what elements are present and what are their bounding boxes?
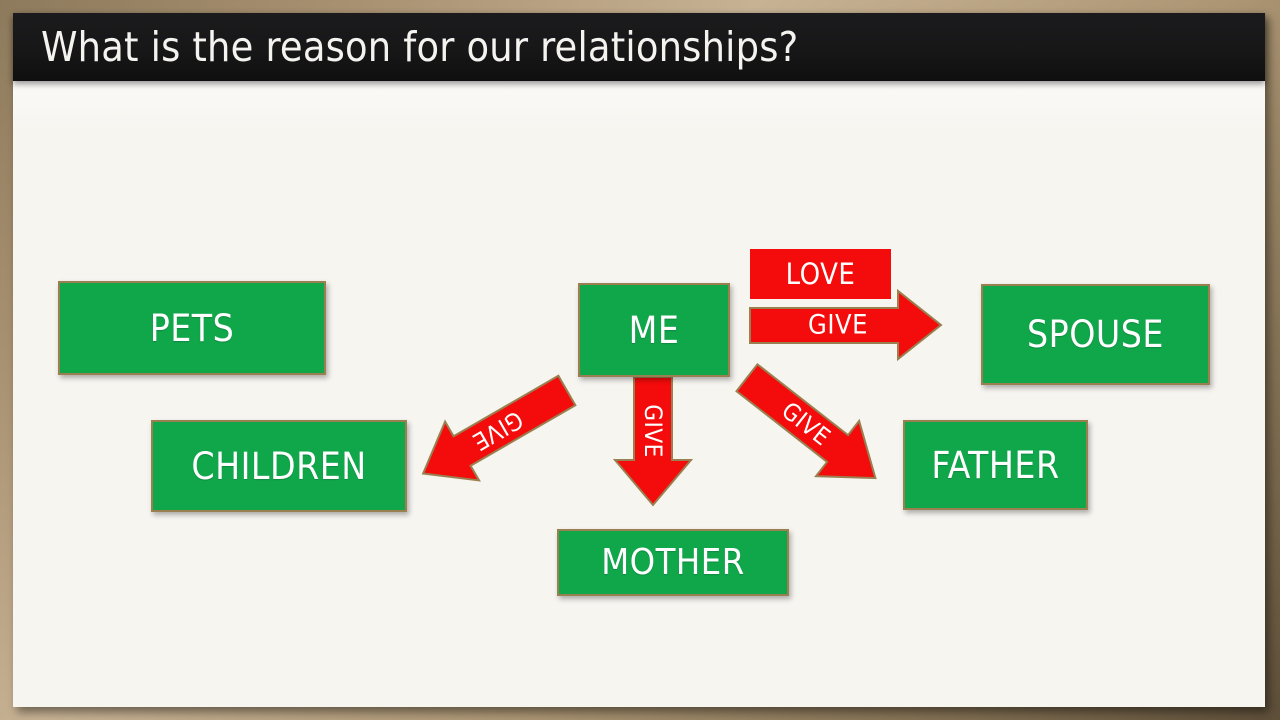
node-me-label: ME <box>629 312 680 349</box>
node-father[interactable]: FATHER <box>903 420 1088 510</box>
node-mother-label: MOTHER <box>601 545 745 581</box>
node-spouse-label: SPOUSE <box>1027 316 1164 353</box>
relationship-diagram: GIVE GIVE GIVE GIVE LOVE PETS <box>0 0 1280 720</box>
node-pets-label: PETS <box>150 310 235 347</box>
node-children-label: CHILDREN <box>191 448 366 485</box>
node-pets[interactable]: PETS <box>58 281 326 375</box>
node-father-label: FATHER <box>931 447 1059 484</box>
callout-love-label: LOVE <box>786 260 856 289</box>
connector-me-to-father[interactable]: GIVE <box>725 350 897 506</box>
node-me[interactable]: ME <box>578 283 730 377</box>
node-mother[interactable]: MOTHER <box>557 529 789 596</box>
connector-me-to-spouse[interactable]: GIVE <box>750 291 941 359</box>
callout-love[interactable]: LOVE <box>750 249 891 299</box>
connector-me-to-mother[interactable]: GIVE <box>615 377 691 505</box>
slide-frame: What is the reason for our relationships… <box>0 0 1280 720</box>
connector-label-give-mother: GIVE <box>639 404 667 458</box>
node-children[interactable]: CHILDREN <box>151 420 407 512</box>
connector-label-give-spouse: GIVE <box>808 310 868 341</box>
connector-me-to-children[interactable]: GIVE <box>406 361 584 503</box>
node-spouse[interactable]: SPOUSE <box>981 284 1210 385</box>
